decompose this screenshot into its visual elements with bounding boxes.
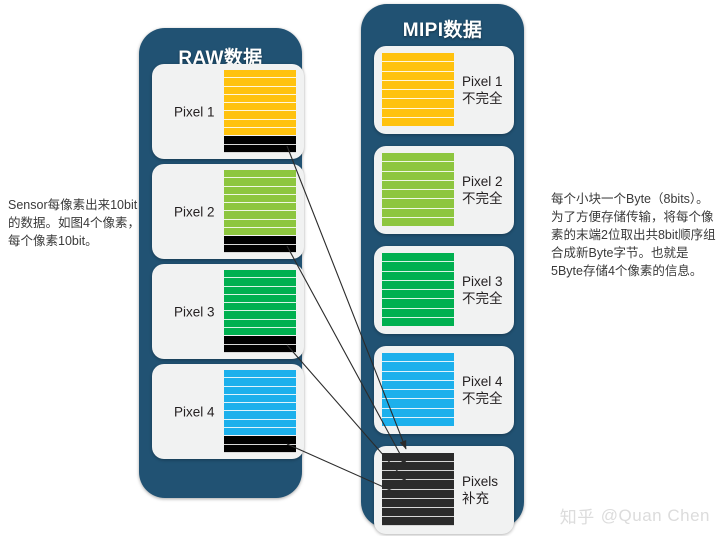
bit-row [382, 218, 454, 226]
bit-row [224, 145, 296, 154]
bit-row [382, 62, 454, 71]
bit-row [224, 320, 296, 328]
bit-row [224, 411, 296, 419]
mipi-byte-card: Pixel 3 不完全 [374, 246, 514, 334]
bit-stack [224, 70, 296, 135]
note-right: 每个小块一个Byte（8bits）。为了方便存储传输，将每个像素的末端2位取出共… [551, 190, 717, 280]
bit-stack-padding [382, 453, 454, 526]
mipi-byte-label: Pixel 2 不完全 [462, 173, 503, 207]
bit-row [382, 381, 454, 390]
bit-row [224, 303, 296, 311]
bit-row [224, 236, 296, 245]
bit-row [382, 99, 454, 108]
raw-pixel-label: Pixel 4 [174, 403, 215, 420]
bit-row [224, 136, 296, 145]
bit-row [224, 111, 296, 119]
mipi-byte-card: Pixel 4 不完全 [374, 346, 514, 434]
bit-row [224, 436, 296, 445]
bit-row [382, 109, 454, 118]
bit-row [224, 195, 296, 203]
bit-row [382, 318, 454, 326]
bit-row [382, 172, 454, 181]
watermark-handle: @Quan Chen [601, 506, 710, 526]
zhihu-logo-icon: 知乎 [560, 503, 595, 528]
bit-stack-padding [224, 236, 296, 253]
bit-row [382, 272, 454, 281]
bit-stack-padding [224, 336, 296, 353]
raw-pixel-label: Pixel 1 [174, 103, 215, 120]
bit-row [382, 418, 454, 426]
bit-row [224, 420, 296, 428]
bit-row [224, 87, 296, 95]
bit-row [382, 190, 454, 199]
bit-row [382, 72, 454, 81]
bit-row [224, 345, 296, 354]
bit-stack-padding [224, 436, 296, 453]
bit-row [382, 290, 454, 299]
bit-stack [224, 370, 296, 435]
bit-row [224, 387, 296, 395]
bit-row [382, 471, 454, 480]
bit-row [224, 428, 296, 435]
mipi-byte-label: Pixel 3 不完全 [462, 273, 503, 307]
mipi-byte-label: Pixels 补充 [462, 473, 498, 507]
raw-pixel-card: Pixel 3 [152, 264, 304, 359]
bit-row [224, 395, 296, 403]
raw-pixel-label: Pixel 2 [174, 203, 215, 220]
bit-row [382, 153, 454, 162]
bit-row [382, 372, 454, 381]
bit-row [382, 162, 454, 171]
bit-row [224, 370, 296, 378]
bit-row [224, 178, 296, 186]
bit-stack [224, 270, 296, 335]
bit-row [224, 287, 296, 295]
bit-row [382, 309, 454, 318]
bit-row [224, 95, 296, 103]
bit-row [382, 399, 454, 408]
note-left: Sensor每像素出来10bit的数据。如图4个像素，每个像素10bit。 [8, 196, 142, 250]
mipi-panel-title: MIPI数据 [361, 15, 524, 42]
bit-row [382, 508, 454, 517]
bit-row [382, 353, 454, 362]
bit-row [224, 228, 296, 235]
bit-row [382, 81, 454, 90]
bit-row [382, 499, 454, 508]
bit-row [224, 70, 296, 78]
bit-stack [382, 153, 454, 226]
raw-pixel-card: Pixel 2 [152, 164, 304, 259]
bit-row [224, 211, 296, 219]
bit-row [224, 103, 296, 111]
bit-row [224, 278, 296, 286]
bit-row [382, 53, 454, 62]
bit-row [382, 90, 454, 99]
bit-row [382, 453, 454, 462]
bit-row [382, 299, 454, 308]
bit-row [382, 181, 454, 190]
diagram-canvas: RAW数据 MIPI数据 Pixel 1Pixel 2Pixel 3Pixel … [0, 0, 720, 536]
bit-stack [382, 353, 454, 426]
mipi-byte-card: Pixels 补充 [374, 446, 514, 534]
raw-pixel-label: Pixel 3 [174, 303, 215, 320]
bit-row [382, 253, 454, 262]
bit-row [224, 78, 296, 86]
bit-stack [382, 253, 454, 326]
bit-row [224, 336, 296, 345]
bit-row [224, 120, 296, 128]
bit-row [224, 245, 296, 254]
bit-row [382, 262, 454, 271]
bit-row [224, 220, 296, 228]
mipi-byte-card: Pixel 2 不完全 [374, 146, 514, 234]
bit-row [382, 462, 454, 471]
bit-row [224, 403, 296, 411]
bit-row [224, 311, 296, 319]
bit-row [382, 390, 454, 399]
bit-row [224, 328, 296, 335]
bit-row [382, 409, 454, 418]
bit-stack [224, 170, 296, 235]
bit-row [382, 362, 454, 371]
bit-row [224, 378, 296, 386]
mipi-byte-card: Pixel 1 不完全 [374, 46, 514, 134]
bit-row [382, 199, 454, 208]
bit-stack-padding [224, 136, 296, 153]
mipi-byte-label: Pixel 4 不完全 [462, 373, 503, 407]
bit-row [224, 445, 296, 454]
bit-row [224, 270, 296, 278]
bit-row [224, 187, 296, 195]
bit-stack [382, 53, 454, 126]
raw-pixel-card: Pixel 4 [152, 364, 304, 459]
bit-row [382, 480, 454, 489]
watermark: 知乎 @Quan Chen [560, 503, 710, 528]
bit-row [382, 209, 454, 218]
raw-pixel-card: Pixel 1 [152, 64, 304, 159]
bit-row [382, 118, 454, 126]
mipi-byte-label: Pixel 1 不完全 [462, 73, 503, 107]
bit-row [382, 490, 454, 499]
bit-row [224, 170, 296, 178]
bit-row [224, 295, 296, 303]
bit-row [382, 281, 454, 290]
bit-row [224, 203, 296, 211]
bit-row [224, 128, 296, 135]
bit-row [382, 517, 454, 526]
